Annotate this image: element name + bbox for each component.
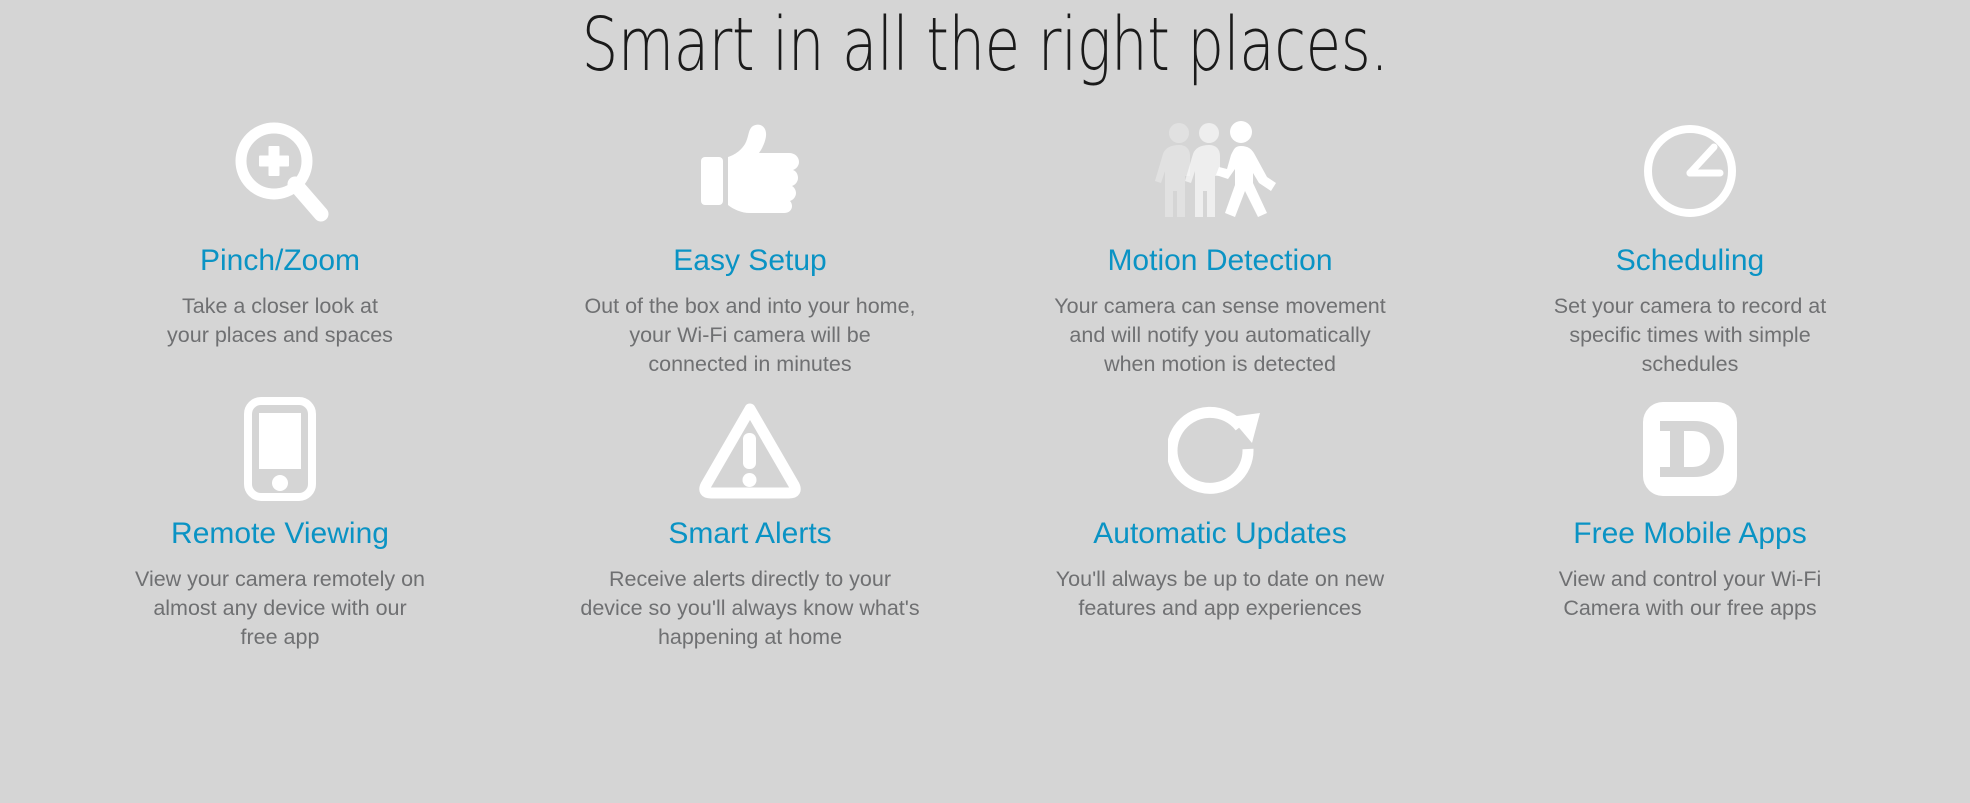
feature-card-smart-alerts: Smart Alerts Receive alerts directly to … bbox=[515, 397, 985, 652]
smartphone-icon bbox=[244, 397, 316, 501]
feature-title: Free Mobile Apps bbox=[1573, 517, 1806, 551]
feature-title: Pinch/Zoom bbox=[200, 244, 360, 278]
magnifier-plus-icon bbox=[229, 116, 331, 226]
feature-description: Receive alerts directly to your device s… bbox=[580, 565, 919, 652]
feature-description: Take a closer look at your places and sp… bbox=[167, 292, 393, 350]
thumbs-up-icon bbox=[695, 116, 805, 226]
feature-title: Easy Setup bbox=[673, 244, 826, 278]
walking-people-motion-icon bbox=[1155, 116, 1285, 226]
feature-highlights-page: Smart in all the right places. Pinch/Zoo… bbox=[0, 0, 1970, 803]
feature-card-motion-detection: Motion Detection Your camera can sense m… bbox=[985, 116, 1455, 379]
feature-card-scheduling: Scheduling Set your camera to record at … bbox=[1455, 116, 1925, 379]
refresh-circle-arrow-icon bbox=[1168, 397, 1272, 501]
page-title: Smart in all the right places. bbox=[217, 0, 1754, 88]
feature-card-remote-viewing: Remote Viewing View your camera remotely… bbox=[45, 397, 515, 652]
feature-description: You'll always be up to date on new featu… bbox=[1056, 565, 1384, 623]
feature-description: Your camera can sense movement and will … bbox=[1054, 292, 1385, 379]
warning-triangle-icon bbox=[695, 397, 805, 501]
feature-title: Scheduling bbox=[1616, 244, 1764, 278]
feature-card-free-mobile-apps: Free Mobile Apps View and control your W… bbox=[1455, 397, 1925, 652]
feature-title: Motion Detection bbox=[1107, 244, 1332, 278]
feature-title: Remote Viewing bbox=[171, 517, 389, 551]
d-app-badge-icon bbox=[1640, 397, 1740, 501]
feature-description: Out of the box and into your home, your … bbox=[584, 292, 915, 379]
feature-title: Automatic Updates bbox=[1093, 517, 1346, 551]
feature-card-automatic-updates: Automatic Updates You'll always be up to… bbox=[985, 397, 1455, 652]
clock-icon bbox=[1640, 116, 1740, 226]
feature-description: View your camera remotely on almost any … bbox=[135, 565, 425, 652]
feature-card-pinch-zoom: Pinch/Zoom Take a closer look at your pl… bbox=[45, 116, 515, 379]
feature-card-easy-setup: Easy Setup Out of the box and into your … bbox=[515, 116, 985, 379]
feature-grid: Pinch/Zoom Take a closer look at your pl… bbox=[45, 116, 1925, 652]
feature-title: Smart Alerts bbox=[668, 517, 831, 551]
feature-description: Set your camera to record at specific ti… bbox=[1554, 292, 1826, 379]
feature-description: View and control your Wi-Fi Camera with … bbox=[1559, 565, 1821, 623]
